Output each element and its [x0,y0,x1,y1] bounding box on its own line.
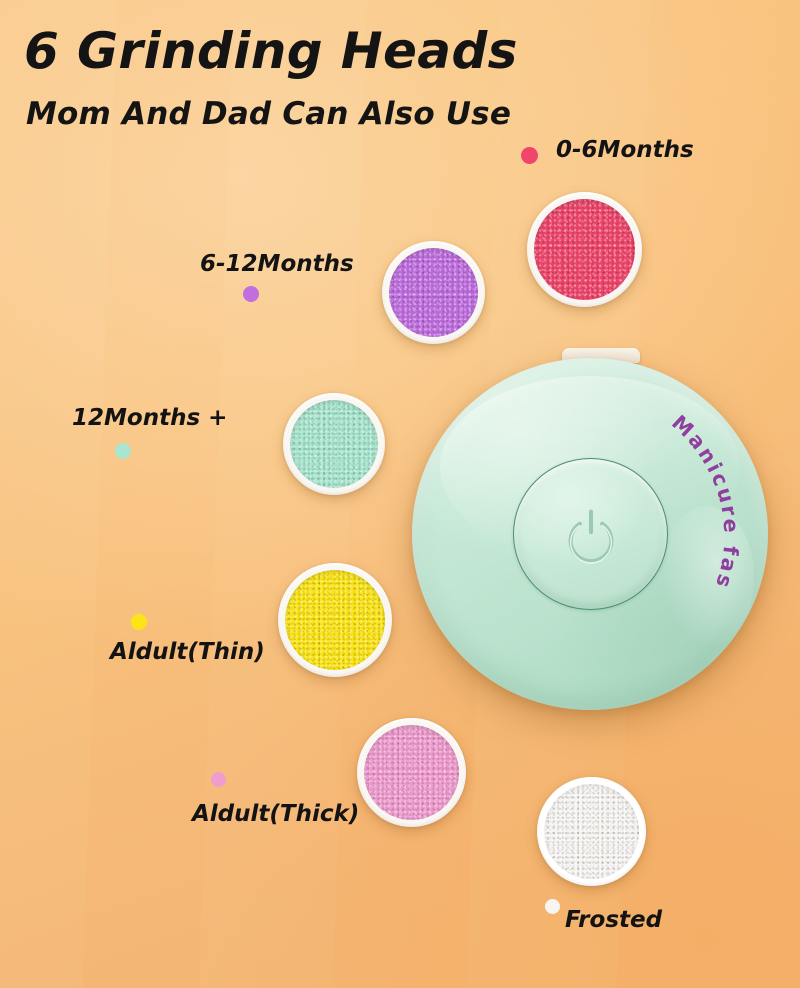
power-icon [560,503,622,565]
power-button[interactable] [513,458,668,610]
callout-dot-aldult-thin [131,614,147,630]
grinding-head-aldult-thin [278,563,392,677]
grinding-head-12months [283,393,385,495]
grinding-head-6-12months [382,241,485,344]
callout-dot-aldult-thick [211,772,226,787]
callout-label-aldult-thick: Aldult(Thick) [192,801,359,827]
callout-dot-6-12months [243,286,259,302]
grinding-head-aldult-thick [357,718,466,827]
grinding-head-pad [389,248,478,337]
grinding-head-pad [364,725,459,820]
grinding-head-pad [290,400,378,488]
callout-label-aldult-thin: Aldult(Thin) [110,639,265,665]
callout-label-12months: 12Months + [72,405,227,431]
callout-label-0-6months: 0-6Months [556,137,694,163]
callout-dot-frosted [545,899,560,914]
callout-label-6-12months: 6-12Months [200,251,354,277]
page-subtitle: Mom And Dad Can Also Use [26,96,511,132]
callout-dot-0-6months [521,147,538,164]
callout-dot-12months [115,443,131,459]
grinding-head-pad [285,570,385,670]
callout-label-frosted: Frosted [565,907,662,933]
page-title: 6 Grinding Heads [24,22,518,80]
grinding-head-pad [544,784,639,879]
product-promo-image: 6 Grinding Heads Mom And Dad Can Also Us… [0,0,800,988]
grinding-head-0-6months [527,192,642,307]
manicure-device [412,358,768,710]
grinding-head-pad [534,199,635,300]
grinding-head-frosted [537,777,646,886]
device-gloss-right [661,506,754,647]
